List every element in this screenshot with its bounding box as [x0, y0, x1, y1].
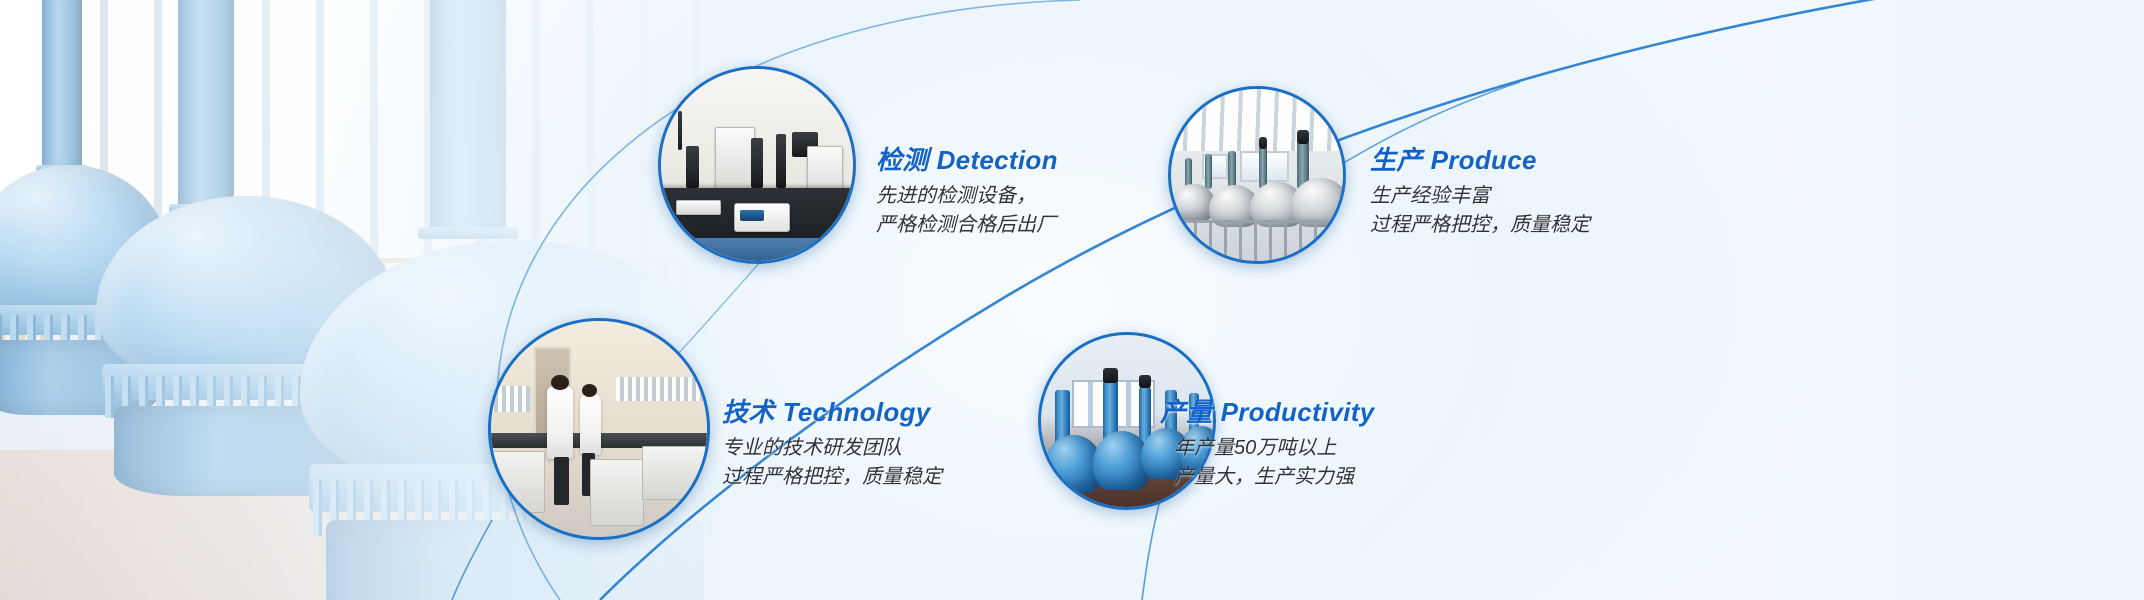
lab-base-cabinet — [642, 446, 707, 500]
lab-instrument-dark — [751, 138, 763, 188]
lab-coat-worker — [547, 386, 573, 459]
feature-line: 过程严格把控，质量稳定 — [722, 463, 942, 492]
feature-text-produce: 生产Produce 生产经验丰富 过程严格把控，质量稳定 — [1370, 146, 1590, 240]
detection-laboratory-photo[interactable] — [658, 66, 856, 264]
feature-line: 专业的技术研发团队 — [722, 434, 942, 463]
agitator-motor — [1297, 130, 1309, 144]
title-en: Productivity — [1221, 397, 1375, 427]
worker-legs — [554, 457, 569, 505]
glassware-shelf — [616, 377, 702, 401]
feature-title-productivity: 产量Productivity — [1160, 398, 1460, 427]
feature-line: 过程严格把控，质量稳定 — [1370, 211, 1590, 240]
agitator-column — [178, 0, 234, 209]
capability-banner: 检测Detection 先进的检测设备， 严格检测合格后出厂 生产Produce… — [0, 0, 2144, 600]
title-en: Detection — [937, 145, 1058, 175]
lab-base-cabinet — [590, 459, 644, 526]
title-en: Technology — [783, 397, 931, 427]
title-cn: 产量 — [1160, 397, 1213, 427]
feature-text-detection: 检测Detection 先进的检测设备， 严格检测合格后出厂 — [876, 146, 1058, 240]
worker-head — [582, 384, 597, 397]
feature-title-detection: 检测Detection — [876, 146, 1058, 175]
feature-title-produce: 生产Produce — [1370, 146, 1590, 175]
digital-scale — [734, 203, 790, 232]
title-cn: 检测 — [876, 145, 929, 175]
feature-line: 年产量50万吨以上 — [1160, 434, 1460, 463]
photo-inner — [661, 69, 853, 261]
glassware-shelf — [491, 386, 530, 412]
lab-tray — [676, 200, 720, 215]
lab-instrument-dark — [686, 146, 699, 188]
arc-connector-productivity — [1142, 500, 1160, 600]
title-cn: 生产 — [1370, 145, 1423, 175]
lab-instrument — [715, 127, 755, 194]
agitator-column — [430, 0, 506, 232]
workshop-scene — [1171, 89, 1343, 261]
lab-scene — [661, 69, 853, 261]
agitator-column — [42, 0, 82, 170]
feature-text-productivity: 产量Productivity 年产量50万吨以上 产量大，生产实力强 — [1160, 398, 1460, 492]
feature-line: 先进的检测设备， — [876, 182, 1058, 211]
feature-line: 产量大，生产实力强 — [1160, 463, 1460, 492]
feature-title-technology: 技术Technology — [722, 398, 942, 427]
photo-inner — [1171, 89, 1343, 261]
agitator-motor — [1103, 368, 1118, 383]
workshop-roof — [1171, 89, 1343, 151]
production-workshop-photo[interactable] — [1168, 86, 1346, 264]
lab-base-cabinet — [491, 451, 545, 513]
agitator-column — [1259, 146, 1268, 189]
feature-line: 生产经验丰富 — [1370, 182, 1590, 211]
lab-instrument-dark — [776, 134, 786, 188]
rnd-lab-scene — [491, 321, 707, 537]
feature-line: 严格检测合格后出厂 — [876, 211, 1058, 240]
agitator-motor — [1139, 375, 1151, 389]
agitator-motor — [1259, 137, 1268, 149]
title-cn: 技术 — [722, 397, 775, 427]
lab-coat-worker — [580, 394, 602, 454]
agitator-column — [1139, 387, 1151, 442]
agitator-column — [1205, 154, 1212, 188]
agitator-column — [1228, 151, 1237, 189]
lab-stand — [678, 111, 682, 149]
photo-inner — [491, 321, 707, 537]
technology-rnd-lab-photo[interactable] — [488, 318, 710, 540]
workshop-railing — [1171, 220, 1343, 261]
lab-base-cabinet — [661, 238, 853, 261]
worker-head — [551, 375, 568, 390]
feature-text-technology: 技术Technology 专业的技术研发团队 过程严格把控，质量稳定 — [722, 398, 942, 492]
title-en: Produce — [1431, 145, 1537, 175]
